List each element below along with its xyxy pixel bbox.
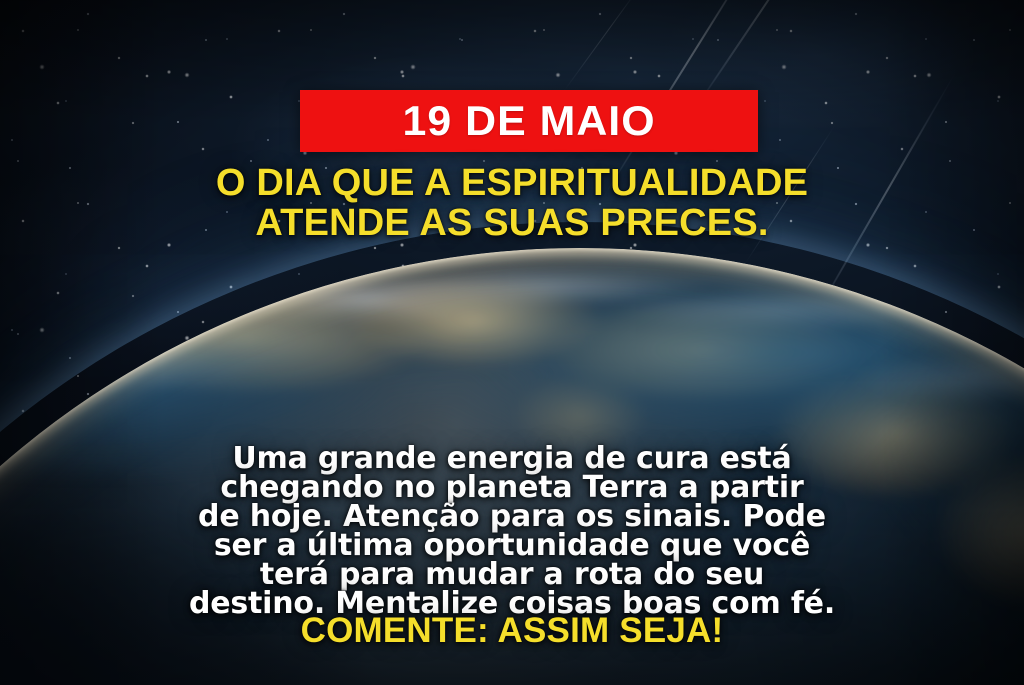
- headline-line-1: O DIA QUE A ESPIRITUALIDADE: [0, 163, 1024, 203]
- body-line-2: chegando no planeta Terra a partir: [0, 473, 1024, 502]
- body-paragraph: Uma grande energia de cura está chegando…: [0, 444, 1024, 618]
- poster-canvas: 19 DE MAIO O DIA QUE A ESPIRITUALIDADE A…: [0, 0, 1024, 685]
- body-line-4: ser a última oportunidade que você: [0, 531, 1024, 560]
- body-line-3: de hoje. Atenção para os sinais. Pode: [0, 502, 1024, 531]
- poster-content: 19 DE MAIO O DIA QUE A ESPIRITUALIDADE A…: [0, 0, 1024, 685]
- date-banner: 19 DE MAIO: [300, 90, 758, 152]
- call-to-action-label: COMENTE: ASSIM SEJA!: [0, 612, 1024, 650]
- headline: O DIA QUE A ESPIRITUALIDADE ATENDE AS SU…: [0, 163, 1024, 243]
- body-line-5: terá para mudar a rota do seu: [0, 560, 1024, 589]
- date-banner-label: 19 DE MAIO: [402, 100, 655, 142]
- body-line-1: Uma grande energia de cura está: [0, 444, 1024, 473]
- headline-line-2: ATENDE AS SUAS PRECES.: [0, 203, 1024, 243]
